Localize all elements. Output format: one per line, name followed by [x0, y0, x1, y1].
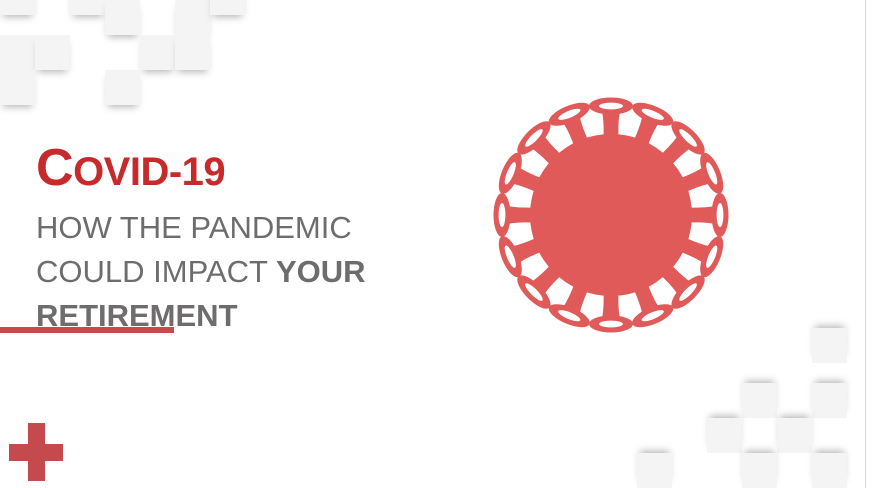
- decorative-square: [742, 383, 777, 418]
- decorative-square: [812, 383, 847, 418]
- title-text-block: COVID-19 HOW THE PANDEMICCOULD IMPACT YO…: [36, 142, 456, 338]
- decorative-square: [140, 35, 175, 70]
- decorative-square: [70, 0, 105, 15]
- decorative-square: [0, 0, 35, 15]
- subtitle-line-2-bold: YOUR: [276, 254, 366, 289]
- decorative-squares-top-left: [0, 0, 300, 130]
- decorative-square: [812, 453, 847, 488]
- slide-canvas: COVID-19 HOW THE PANDEMICCOULD IMPACT YO…: [0, 0, 872, 488]
- subtitle-line-2-regular: COULD IMPACT: [36, 254, 276, 289]
- decorative-square: [105, 0, 140, 35]
- decorative-square: [742, 453, 777, 488]
- decorative-square: [175, 0, 210, 35]
- right-edge-line: [865, 0, 866, 488]
- subtitle-line-1: HOW THE PANDEMIC: [36, 210, 352, 245]
- coronavirus-icon: [481, 85, 741, 345]
- decorative-square: [105, 70, 140, 105]
- title-cap-letter: C: [36, 139, 73, 197]
- accent-rule: [0, 327, 174, 333]
- decorative-square: [175, 35, 210, 70]
- plus-icon-horizontal-bar: [9, 444, 63, 461]
- page-title: COVID-19: [36, 142, 456, 194]
- decorative-square: [707, 418, 742, 453]
- decorative-square: [0, 70, 35, 105]
- title-rest: OVID-19: [73, 150, 225, 194]
- subtitle: HOW THE PANDEMICCOULD IMPACT YOURRETIREM…: [36, 194, 456, 338]
- decorative-square: [637, 453, 672, 488]
- decorative-square: [0, 35, 35, 70]
- decorative-square: [812, 328, 847, 363]
- decorative-square: [777, 418, 812, 453]
- decorative-square: [210, 0, 245, 15]
- plus-icon: [9, 423, 63, 481]
- decorative-square: [35, 35, 70, 70]
